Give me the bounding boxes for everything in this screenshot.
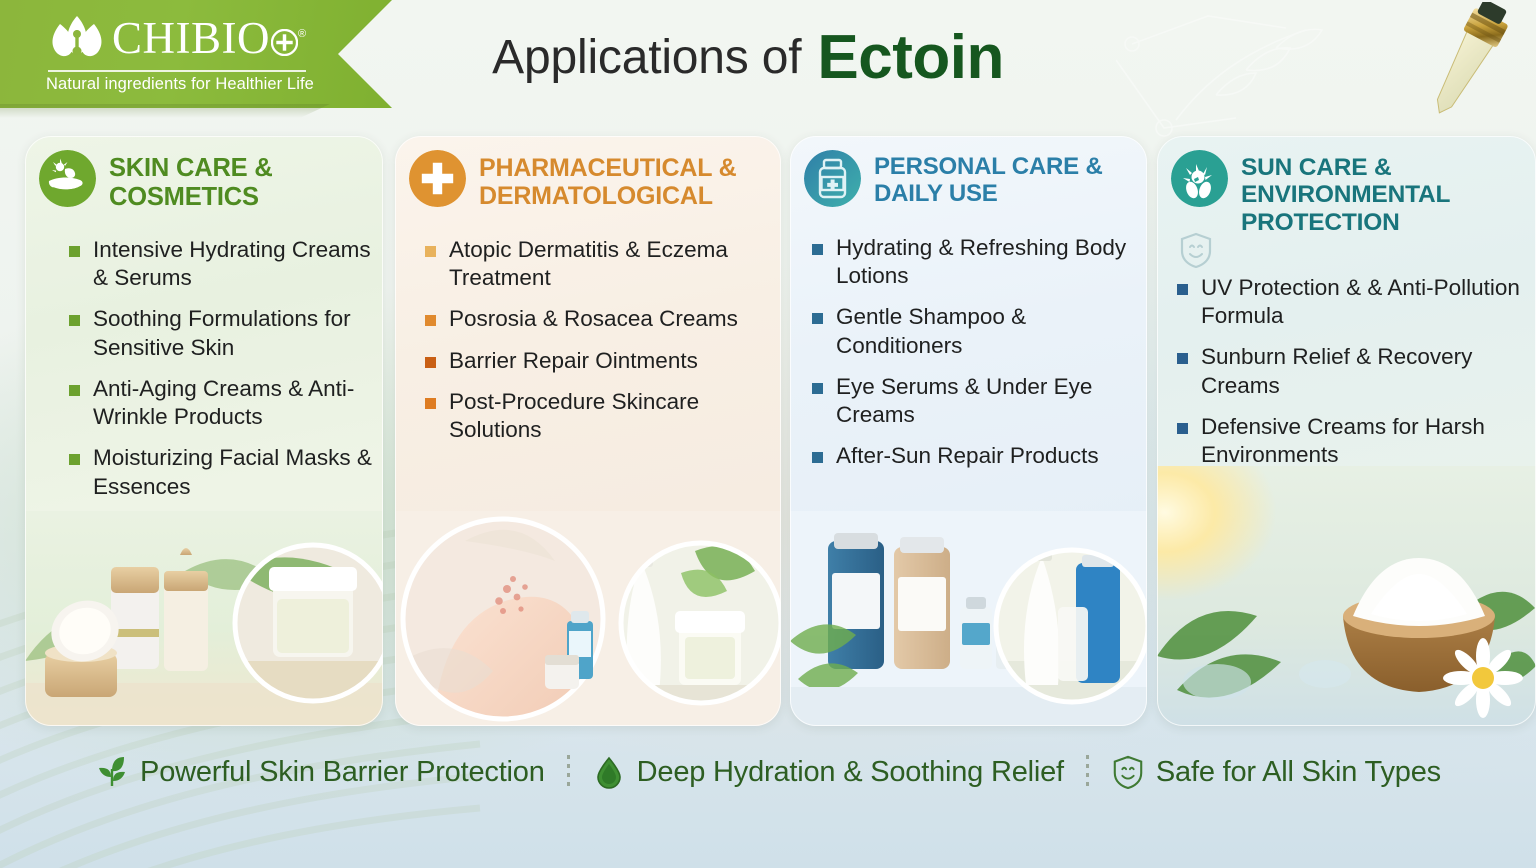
list-item: Eye Serums & Under Eye Creams: [810, 373, 1140, 429]
card-title: PERSONAL CARE & DAILY USE: [874, 150, 1133, 208]
card-bullet-list: Intensive Hydrating Creams & Serums Soot…: [67, 236, 377, 514]
footer-label: Safe for All Skin Types: [1156, 756, 1441, 789]
card-personal-care-daily-use[interactable]: PERSONAL CARE & DAILY USE Hydrating & Re…: [790, 136, 1147, 726]
title-prefix: Applications of: [492, 30, 801, 85]
card-title: PHARMACEUTICAL & DERMATOLOGICAL: [479, 150, 767, 210]
card-bullet-list: UV Protection & & Anti-Pollution Formula…: [1175, 274, 1525, 482]
infographic-page: CHIBIO ® Natural ingredients for Healthi…: [0, 0, 1536, 868]
list-item: Post-Procedure Skincare Solutions: [423, 388, 773, 444]
list-item: Sunburn Relief & Recovery Creams: [1175, 343, 1525, 399]
card-photos: [790, 511, 1147, 726]
footer-separator: [1086, 755, 1089, 789]
list-item: Intensive Hydrating Creams & Serums: [67, 236, 377, 292]
list-item: Atopic Dermatitis & Eczema Treatment: [423, 236, 773, 292]
list-item: Barrier Repair Ointments: [423, 347, 773, 375]
dropper-pipette-image: [1408, 2, 1518, 122]
leaf-sprout-icon: [95, 755, 129, 789]
list-item: Anti-Aging Creams & Anti-Wrinkle Product…: [67, 375, 377, 431]
footer-item: Safe for All Skin Types: [1089, 755, 1463, 789]
card-header: PHARMACEUTICAL & DERMATOLOGICAL: [395, 136, 781, 210]
footer-item: Deep Hydration & Soothing Relief: [570, 755, 1086, 789]
card-title: SKIN CARE & COSMETICS: [109, 150, 369, 211]
card-skin-care-cosmetics[interactable]: SKIN CARE & COSMETICS Intensive Hydratin…: [25, 136, 383, 726]
card-title: SUN CARE & ENVIRONMENTAL PROTECTION: [1241, 150, 1522, 236]
card-photos: [1157, 466, 1536, 726]
card-bullet-list: Atopic Dermatitis & Eczema Treatment Pos…: [423, 236, 773, 457]
card-header: SKIN CARE & COSMETICS: [25, 136, 383, 211]
footer-label: Powerful Skin Barrier Protection: [140, 756, 545, 789]
list-item: UV Protection & & Anti-Pollution Formula: [1175, 274, 1525, 330]
medicine-bottle-icon: [804, 150, 861, 207]
shield-face-icon: [1111, 755, 1145, 789]
title-highlight: Ectoin: [817, 22, 1003, 93]
card-sun-care-environmental-protection[interactable]: SUN CARE & ENVIRONMENTAL PROTECTION UV P…: [1157, 136, 1536, 726]
cards-row: SKIN CARE & COSMETICS Intensive Hydratin…: [0, 136, 1536, 726]
card-photos: [395, 511, 781, 726]
footer-label: Deep Hydration & Soothing Relief: [637, 756, 1064, 789]
cream-jar-circle-photo: [235, 545, 383, 701]
plus-badge-icon: [271, 29, 298, 56]
list-item: After-Sun Repair Products: [810, 442, 1140, 470]
ointment-tube-jar-circle-photo: [621, 543, 781, 703]
registered-mark: ®: [298, 28, 307, 40]
page-title: Applications of Ectoin: [398, 16, 1098, 98]
card-bullet-list: Hydrating & Refreshing Body Lotions Gent…: [810, 234, 1140, 484]
shield-face-icon: [1179, 232, 1213, 268]
logo-wordmark: CHIBIO ®: [112, 16, 307, 61]
list-item: Moisturizing Facial Masks & Essences: [67, 444, 377, 500]
water-drop-icon: [592, 755, 626, 789]
hand-with-flower-icon: [39, 150, 96, 207]
lotion-tubes-circle-photo: [996, 550, 1147, 702]
card-pharmaceutical-dermatological[interactable]: PHARMACEUTICAL & DERMATOLOGICAL Atopic D…: [395, 136, 781, 726]
banner-shadow: [0, 104, 330, 118]
card-photos: [25, 511, 383, 726]
list-item: Posrosia & Rosacea Creams: [423, 305, 773, 333]
list-item: Hydrating & Refreshing Body Lotions: [810, 234, 1140, 290]
brand-tagline: Natural ingredients for Healthier Life: [46, 75, 346, 94]
footer-benefits: Powerful Skin Barrier Protection Deep Hy…: [0, 736, 1536, 808]
logo[interactable]: CHIBIO ® Natural ingredients for Healthi…: [46, 14, 346, 94]
list-item: Soothing Formulations for Sensitive Skin: [67, 305, 377, 361]
list-item: Defensive Creams for Harsh Environments: [1175, 413, 1525, 469]
logo-divider: [48, 70, 306, 72]
footer-separator: [567, 755, 570, 789]
card-header: PERSONAL CARE & DAILY USE: [790, 136, 1147, 208]
sun-flower-icon: [1171, 150, 1228, 207]
list-item: Gentle Shampoo & Conditioners: [810, 303, 1140, 359]
card-header: SUN CARE & ENVIRONMENTAL PROTECTION: [1157, 136, 1536, 236]
medical-cross-icon: [409, 150, 466, 207]
header: CHIBIO ® Natural ingredients for Healthi…: [0, 0, 1536, 120]
chibio-flower-logo-icon: [46, 14, 108, 66]
footer-item: Powerful Skin Barrier Protection: [73, 755, 567, 789]
